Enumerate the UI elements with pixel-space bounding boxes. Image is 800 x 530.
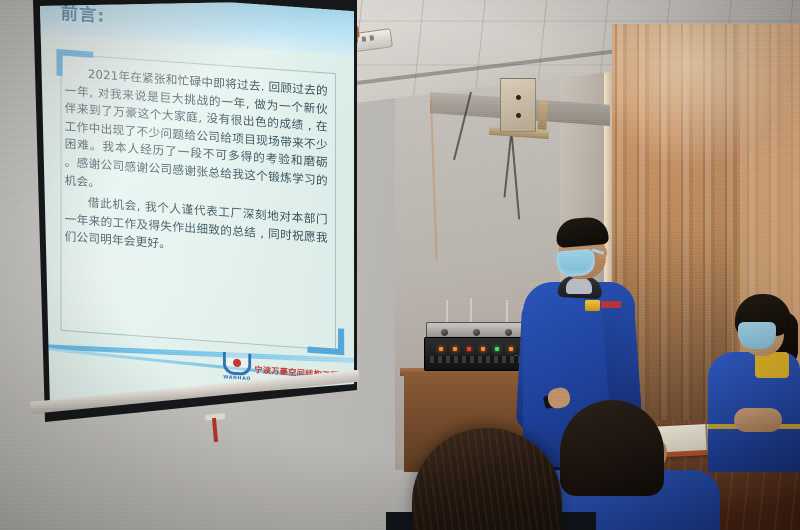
meeting-room-photo: 前言: 2021年在紧张和忙碌中即将过去. 回顾过去的一年, 对我来说是巨大挑战… — [0, 0, 800, 530]
receiver-antenna — [470, 298, 472, 324]
wall-speaker-icon — [500, 78, 536, 132]
receiver-knob[interactable] — [505, 329, 512, 336]
status-led-red — [467, 347, 471, 351]
face-mask-icon — [738, 322, 776, 349]
slide-body-text: 2021年在紧张和忙碌中即将过去. 回顾过去的一年, 对我来说是巨大挑战的一年,… — [65, 64, 328, 268]
mixer-channel-strip[interactable] — [430, 356, 530, 363]
attendee-clasped-hands — [734, 408, 782, 432]
status-led-orange — [509, 347, 513, 351]
projected-slide: 前言: 2021年在紧张和忙碌中即将过去. 回顾过去的一年, 对我来说是巨大挑战… — [36, 0, 354, 408]
receiver-knob[interactable] — [441, 329, 448, 336]
logo-dot — [233, 359, 241, 368]
status-led-orange — [453, 347, 457, 351]
foreground-attendee-head — [560, 400, 664, 496]
uniform-brand-text — [601, 301, 621, 308]
uniform-logo-badge — [585, 300, 600, 311]
slide-canvas: 前言: 2021年在紧张和忙碌中即将过去. 回顾过去的一年, 对我来说是巨大挑战… — [36, 0, 354, 408]
receiver-antenna — [446, 300, 448, 324]
receiver-knob[interactable] — [473, 329, 480, 336]
speaker-driver-hole — [516, 95, 521, 100]
status-led-orange — [481, 347, 485, 351]
status-led-green — [495, 347, 499, 351]
slide-paragraph-1: 2021年在紧张和忙碌中即将过去. 回顾过去的一年, 对我来说是巨大挑战的一年,… — [65, 64, 328, 208]
receiver-antenna — [506, 300, 508, 324]
status-led-orange — [439, 347, 443, 351]
presenter-inner-shirt — [566, 278, 592, 294]
corner-accent-bottomright — [307, 326, 344, 355]
logo-u-shape — [223, 352, 252, 376]
speaker-driver-hole — [516, 113, 521, 118]
logo-mark-icon: WANHAO — [224, 352, 251, 385]
